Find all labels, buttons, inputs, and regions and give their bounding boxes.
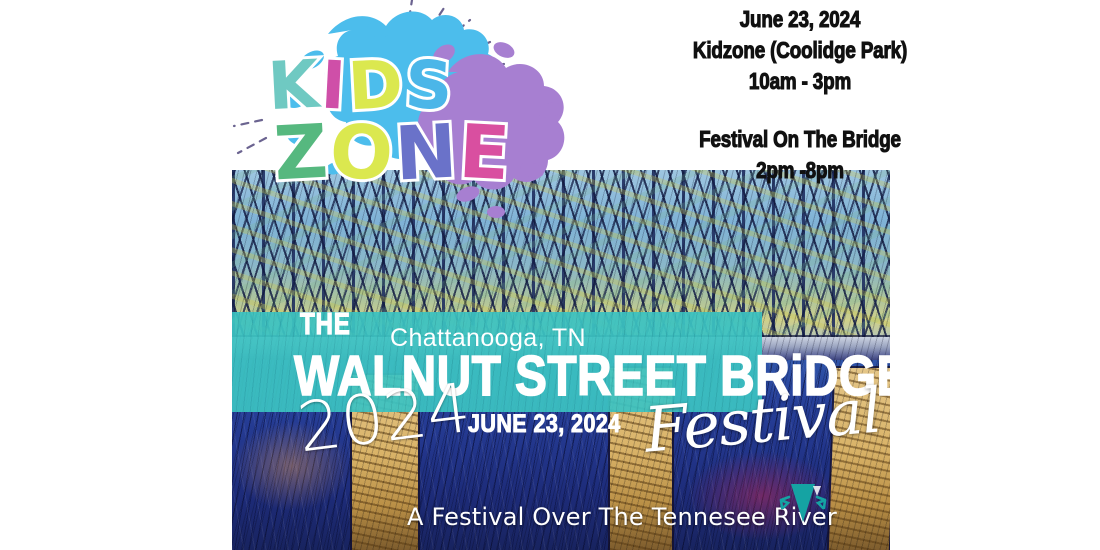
event-info-line: Kidzone (Coolidge Park) [652, 35, 947, 66]
spacer [620, 97, 980, 124]
kids-zone-letter: E [457, 115, 511, 192]
event-info-block: June 23, 2024 Kidzone (Coolidge Park) 10… [620, 4, 980, 186]
kids-zone-letter: Z [272, 115, 329, 192]
title-date: JUNE 23, 2024 [468, 412, 621, 437]
kids-zone-line-2: ZONE [274, 116, 509, 190]
event-info-line: 2pm -8pm [652, 155, 947, 186]
kids-zone-letter: N [393, 114, 459, 191]
title-festival: Festival [642, 379, 883, 461]
kids-zone-logo: KIDS ZONE [232, 0, 592, 230]
v-logo-icon [775, 478, 831, 528]
title-year: 2024 [294, 375, 474, 464]
title-the: THE [300, 308, 351, 339]
v-logo [775, 478, 831, 528]
kids-zone-letter: O [328, 114, 395, 191]
poster-root: THE Chattanooga, TN WALNUT STREET BRiDGE… [0, 0, 1100, 550]
event-info-line: 10am - 3pm [652, 66, 947, 97]
event-info-line: Festival On The Bridge [652, 124, 947, 155]
festival-title-lockup: THE Chattanooga, TN WALNUT STREET BRiDGE… [232, 300, 892, 480]
kids-zone-wordmark: KIDS ZONE [232, 0, 592, 230]
event-info-line: June 23, 2024 [652, 4, 947, 35]
title-tagline: A Festival Over The Tennesee River [407, 505, 837, 529]
